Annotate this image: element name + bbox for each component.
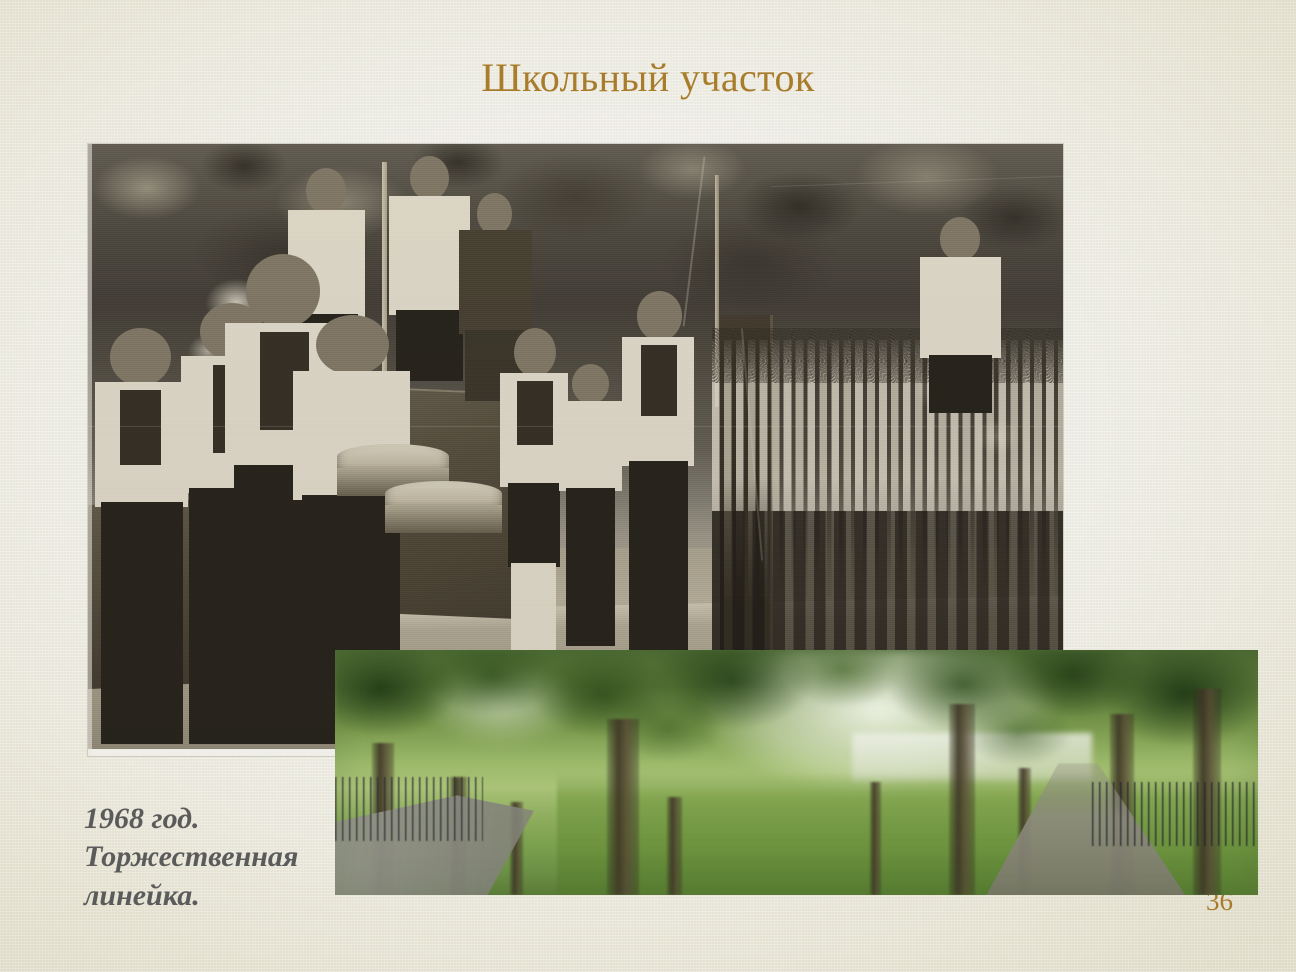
photo-left-border (88, 144, 92, 756)
photo-caption: 1968 год. Торжественная линейка. (84, 800, 334, 915)
school-grounds-photo[interactable] (335, 650, 1258, 895)
photo-vignette (335, 650, 1258, 895)
page-title: Школьный участок (0, 56, 1296, 100)
caption-line-2: Торжественная (84, 838, 334, 876)
caption-line-1: 1968 год. (84, 800, 334, 838)
caption-line-3: линейка. (84, 877, 334, 915)
presentation-slide: Школьный участок (0, 0, 1296, 972)
